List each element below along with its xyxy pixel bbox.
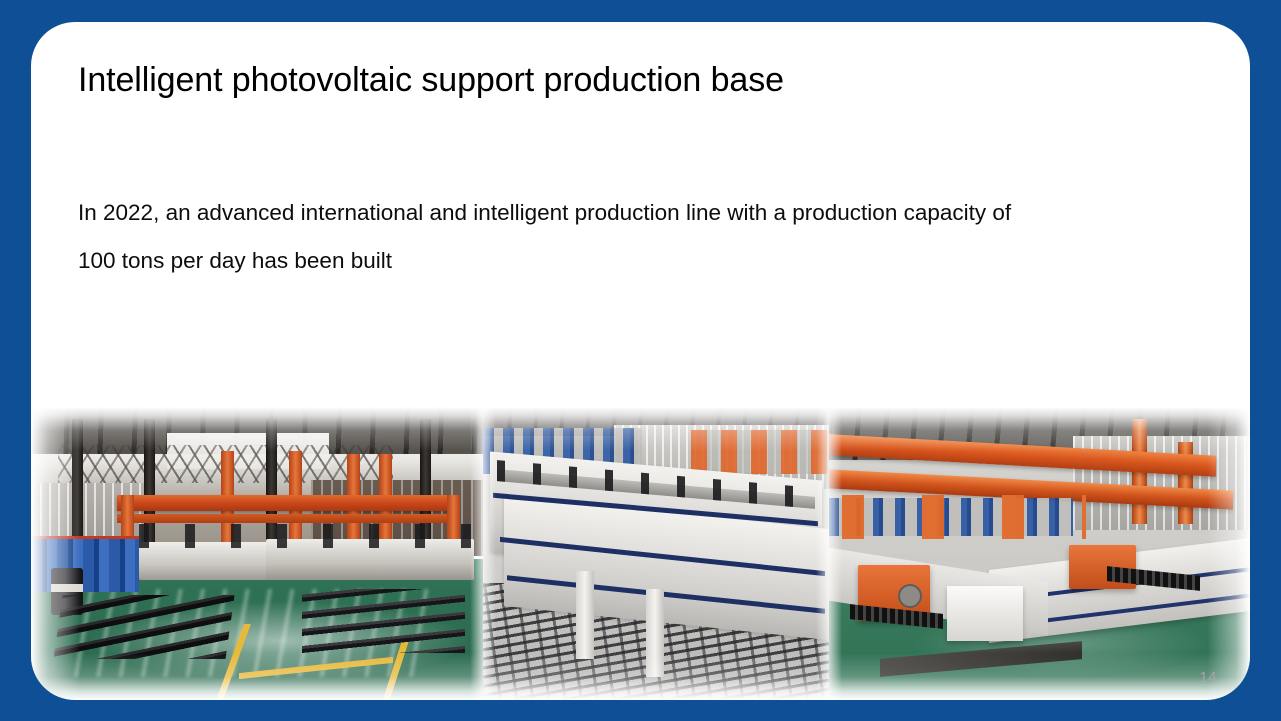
body-line-1: In 2022, an advanced international and i… bbox=[78, 189, 1208, 237]
page-number: 14 bbox=[1199, 669, 1217, 686]
body-line-2: 100 tons per day has been built bbox=[78, 237, 1208, 285]
page-title: Intelligent photovoltaic support product… bbox=[78, 58, 1178, 102]
slide: Intelligent photovoltaic support product… bbox=[0, 0, 1281, 721]
factory-floor-gantry-photo bbox=[31, 407, 483, 700]
body-text-block: In 2022, an advanced international and i… bbox=[78, 189, 1208, 285]
cnc-gantry-line-photo bbox=[829, 407, 1250, 700]
production-line-enclosures-photo bbox=[483, 407, 829, 700]
photo-composite bbox=[31, 407, 1250, 700]
slide-content-card: Intelligent photovoltaic support product… bbox=[31, 22, 1250, 700]
